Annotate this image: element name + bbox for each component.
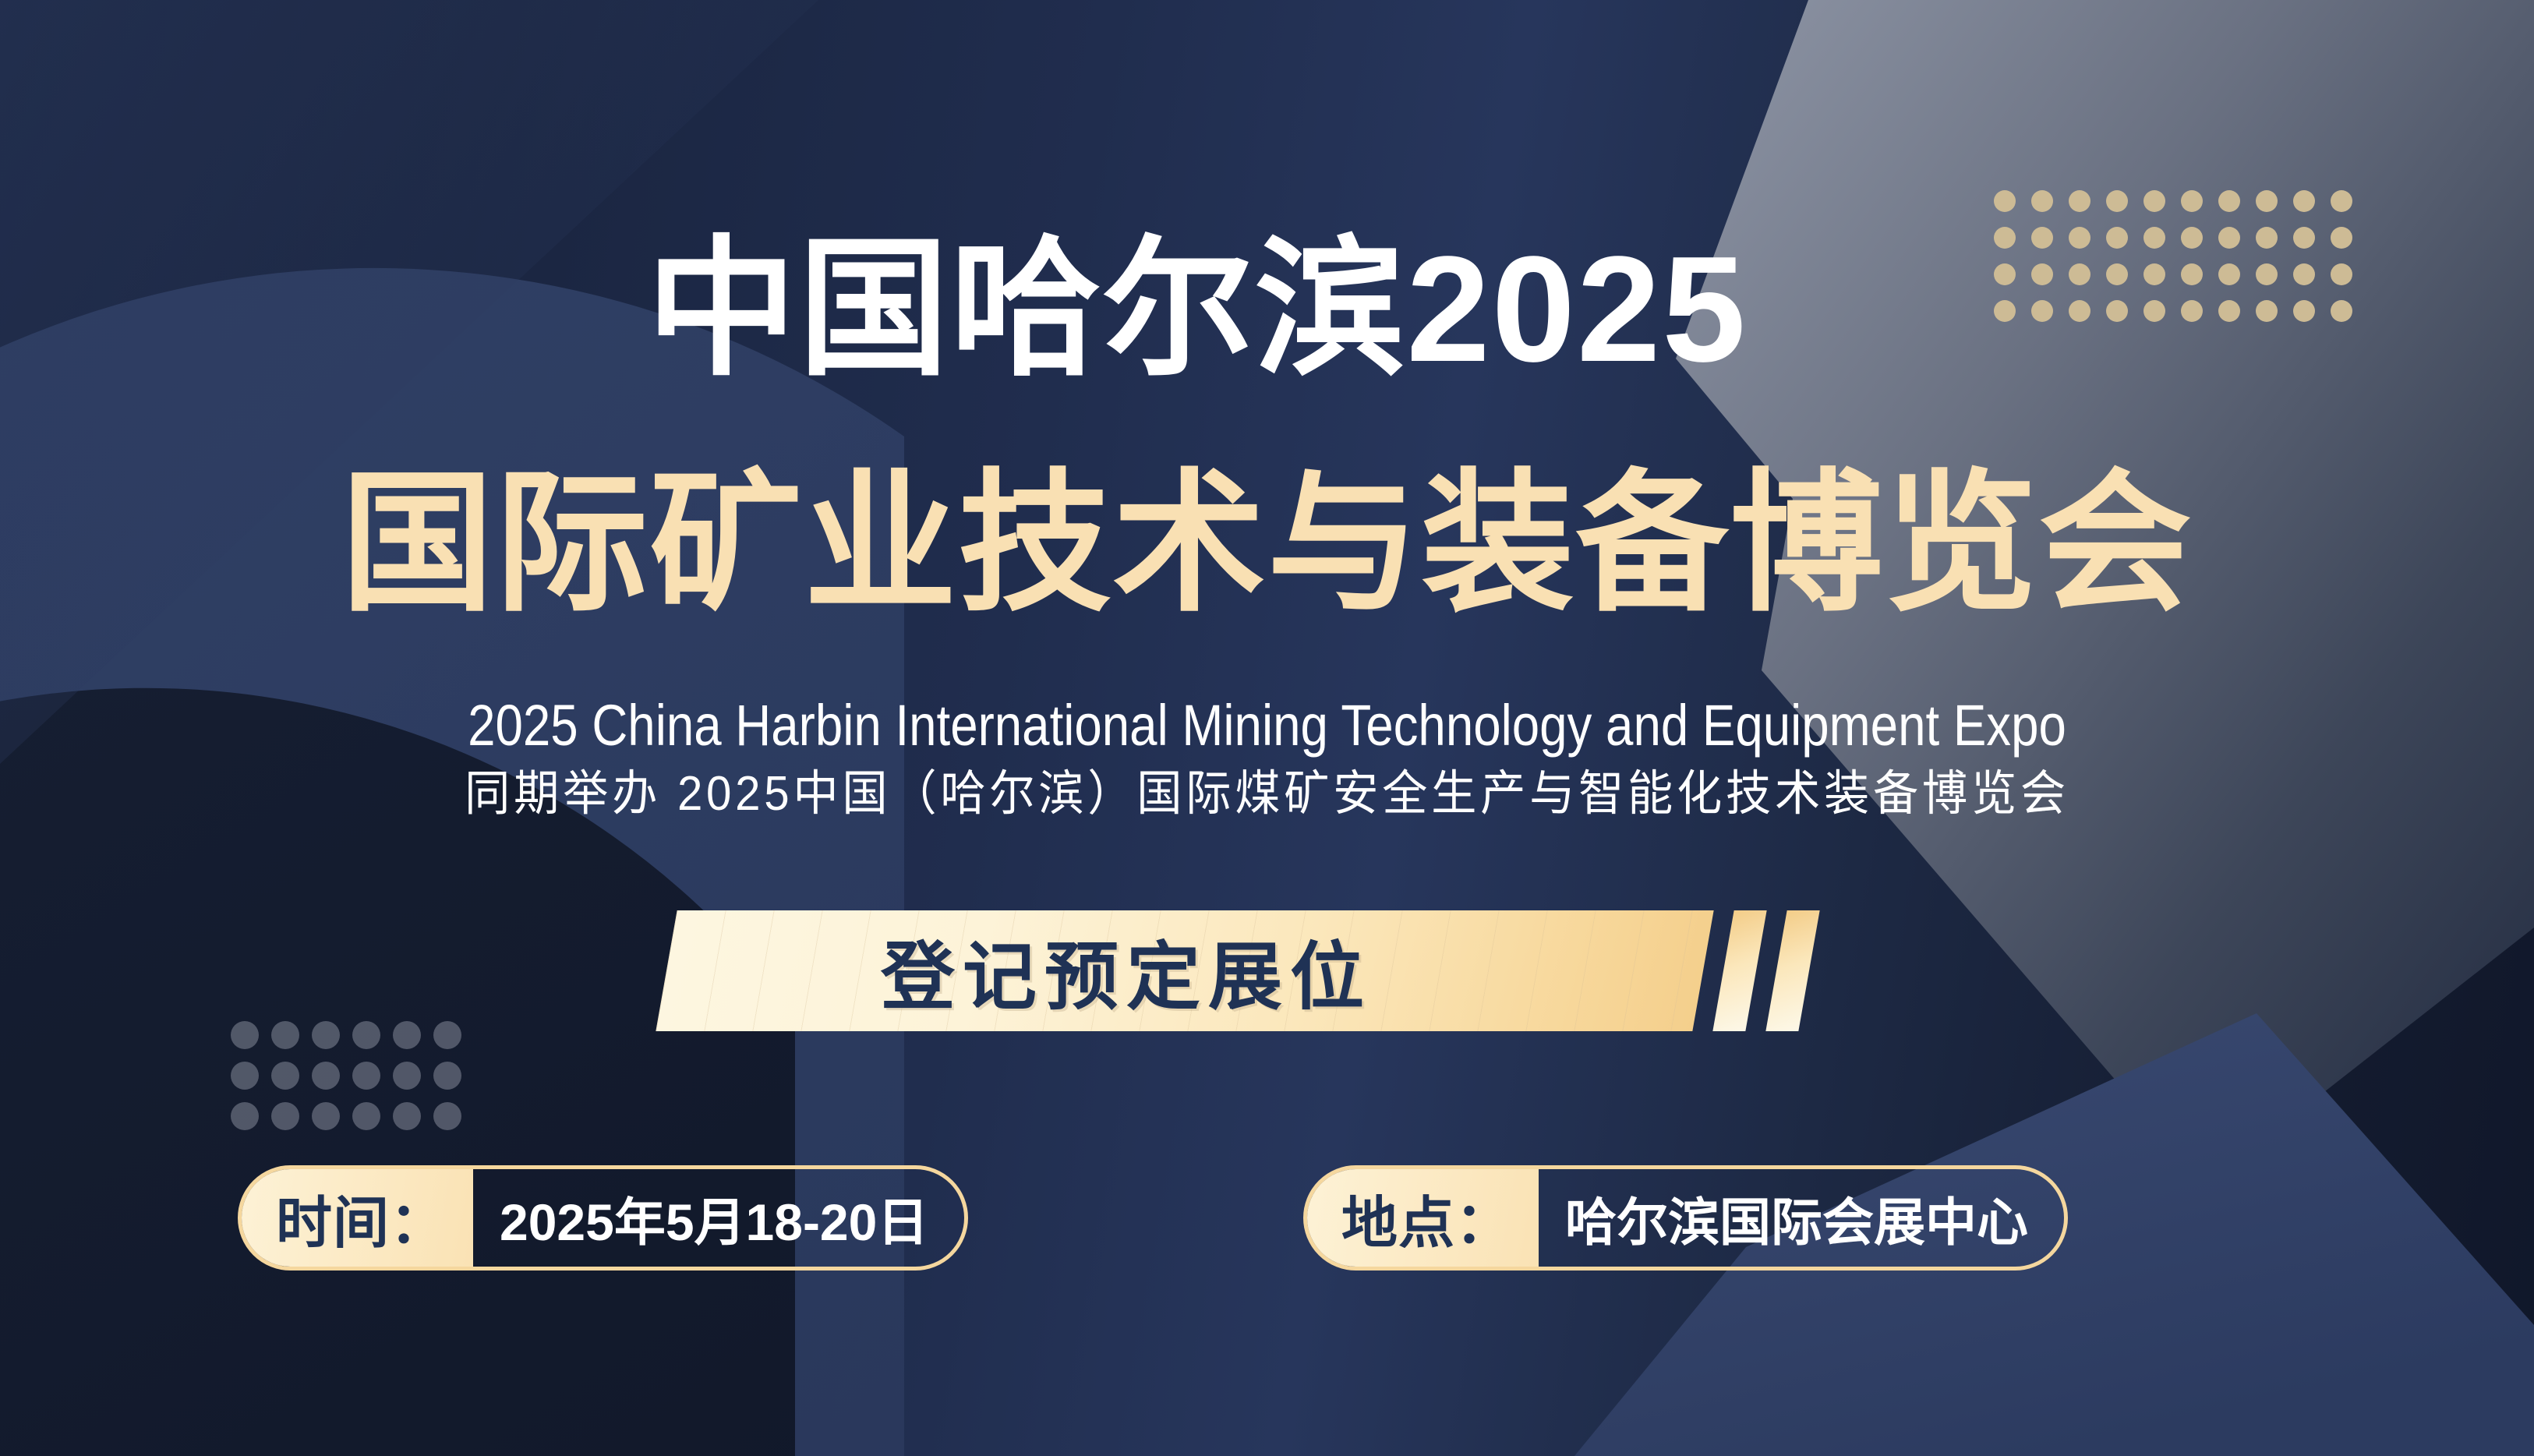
venue-label: 地点： [1307,1169,1539,1267]
concurrent-event-subtitle: 同期举办 2025中国（哈尔滨）国际煤矿安全生产与智能化技术装备博览会 [76,768,2458,821]
time-label: 时间： [242,1169,473,1267]
event-time-pill: 时间： 2025年5月18-20日 [238,1165,968,1270]
poster-content: 中国哈尔滨2025 国际矿业技术与装备博览会 2025 China Harbin… [0,0,2534,1456]
english-subtitle: 2025 China Harbin International Mining T… [178,694,2357,757]
main-title: 中国哈尔滨2025 [0,234,2534,384]
expo-poster: 中国哈尔滨2025 国际矿业技术与装备博览会 2025 China Harbin… [0,0,2534,1456]
cta-label: 登记预定展位 [666,910,1703,1031]
event-venue-pill: 地点： 哈尔滨国际会展中心 [1303,1165,2068,1270]
register-booth-button[interactable]: 登记预定展位 [656,910,1713,1031]
venue-value: 哈尔滨国际会展中心 [1539,1169,2064,1267]
time-value: 2025年5月18-20日 [473,1169,964,1267]
gold-headline: 国际矿业技术与装备博览会 [0,468,2534,620]
slash-accent-icon [1765,910,1819,1031]
slash-accent-icon [1712,910,1766,1031]
cta-banner-group[interactable]: 登记预定展位 [666,910,1809,1031]
